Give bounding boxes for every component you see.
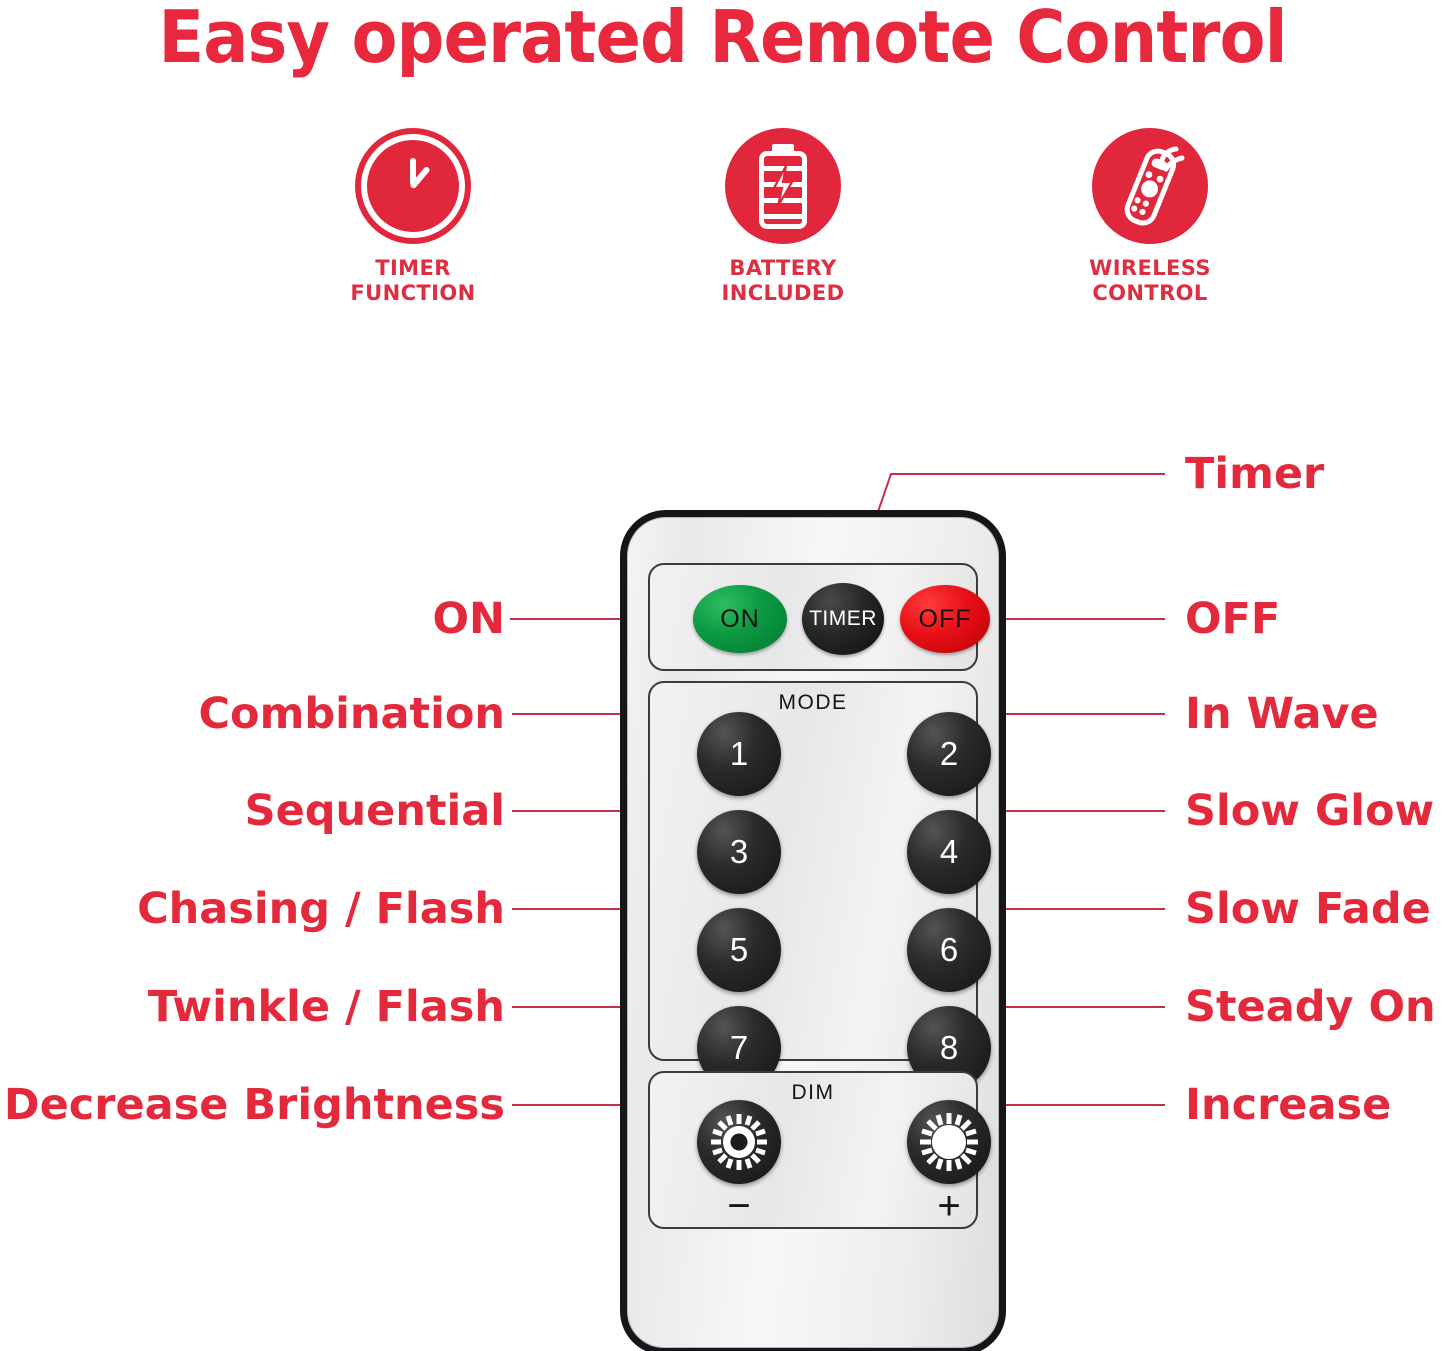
callout-twinkle-flash: Twinkle / Flash [148, 984, 505, 1030]
timer-badge-circle [355, 128, 471, 244]
callout-increase: Increase [1185, 1082, 1391, 1128]
mode-button-2-label: 2 [907, 712, 991, 796]
callout-slow-glow: Slow Glow [1185, 788, 1434, 834]
mode-button-1-label: 1 [697, 712, 781, 796]
mode-button-4[interactable]: 4 [907, 810, 991, 894]
feature-caption-line2: INCLUDED [633, 281, 933, 306]
callout-slow-fade: Slow Fade [1185, 886, 1431, 932]
dim-panel: DIM [648, 1071, 978, 1229]
feature-caption: BATTERY INCLUDED [633, 256, 933, 306]
feature-wireless-control: WIRELESS CONTROL [1000, 128, 1300, 306]
callout-chasing-flash: Chasing / Flash [137, 886, 505, 932]
callout-combination: Combination [198, 691, 505, 737]
mode-button-5[interactable]: 5 [697, 908, 781, 992]
mode-button-5-label: 5 [697, 908, 781, 992]
on-button[interactable]: ON [693, 585, 787, 653]
sun-full-icon [907, 1100, 991, 1184]
off-button-label: OFF [900, 585, 990, 653]
callout-on: ON [432, 596, 505, 642]
battery-badge-circle [725, 128, 841, 244]
timer-button-label: TIMER [802, 583, 884, 655]
dim-increase-button[interactable] [907, 1100, 991, 1184]
page-title: Easy operated Remote Control [51, 0, 1395, 76]
feature-caption: TIMER FUNCTION [263, 256, 563, 306]
clock-face [372, 145, 454, 227]
callout-in-wave: In Wave [1185, 691, 1379, 737]
callout-steady-on: Steady On [1185, 984, 1436, 1030]
power-panel: ON TIMER OFF [648, 563, 978, 671]
clock-icon [361, 134, 465, 238]
dim-plus-sign: + [907, 1191, 991, 1221]
leader-line-timer [890, 473, 1165, 475]
feature-caption-line2: CONTROL [1000, 281, 1300, 306]
feature-caption-line1: WIRELESS [1000, 256, 1300, 281]
feature-caption-line2: FUNCTION [263, 281, 563, 306]
dim-decrease-button[interactable] [697, 1100, 781, 1184]
dim-minus-sign: − [697, 1191, 781, 1221]
battery-bar [764, 214, 802, 219]
mode-button-3[interactable]: 3 [697, 810, 781, 894]
mode-panel: MODE 1 2 3 4 5 6 7 8 [648, 681, 978, 1061]
remote-signal-icon [1100, 136, 1200, 236]
feature-caption-line1: TIMER [263, 256, 563, 281]
callout-off: OFF [1185, 596, 1280, 642]
mode-button-4-label: 4 [907, 810, 991, 894]
feature-caption: WIRELESS CONTROL [1000, 256, 1300, 306]
remote-control-device: ON TIMER OFF MODE 1 2 3 4 5 6 [620, 510, 1006, 1351]
mode-button-2[interactable]: 2 [907, 712, 991, 796]
on-button-label: ON [693, 585, 787, 653]
infographic-canvas: Easy operated Remote Control TIMER FUNCT… [0, 0, 1445, 1351]
timer-button[interactable]: TIMER [802, 583, 884, 655]
battery-terminal [772, 144, 794, 151]
lightning-bolt-icon [771, 166, 795, 206]
mode-button-6[interactable]: 6 [907, 908, 991, 992]
mode-button-1[interactable]: 1 [697, 712, 781, 796]
feature-timer-function: TIMER FUNCTION [263, 128, 563, 306]
callout-decrease-brightness: Decrease Brightness [4, 1082, 505, 1128]
mode-button-3-label: 3 [697, 810, 781, 894]
off-button[interactable]: OFF [900, 585, 990, 653]
feature-battery-included: BATTERY INCLUDED [633, 128, 933, 306]
callout-timer: Timer [1185, 451, 1324, 497]
feature-badge-row: TIMER FUNCTION BATTERY INCLUDED [0, 128, 1445, 318]
mode-button-6-label: 6 [907, 908, 991, 992]
callout-sequential: Sequential [245, 788, 505, 834]
sun-low-icon [697, 1100, 781, 1184]
wireless-badge-circle [1092, 128, 1208, 244]
feature-caption-line1: BATTERY [633, 256, 933, 281]
